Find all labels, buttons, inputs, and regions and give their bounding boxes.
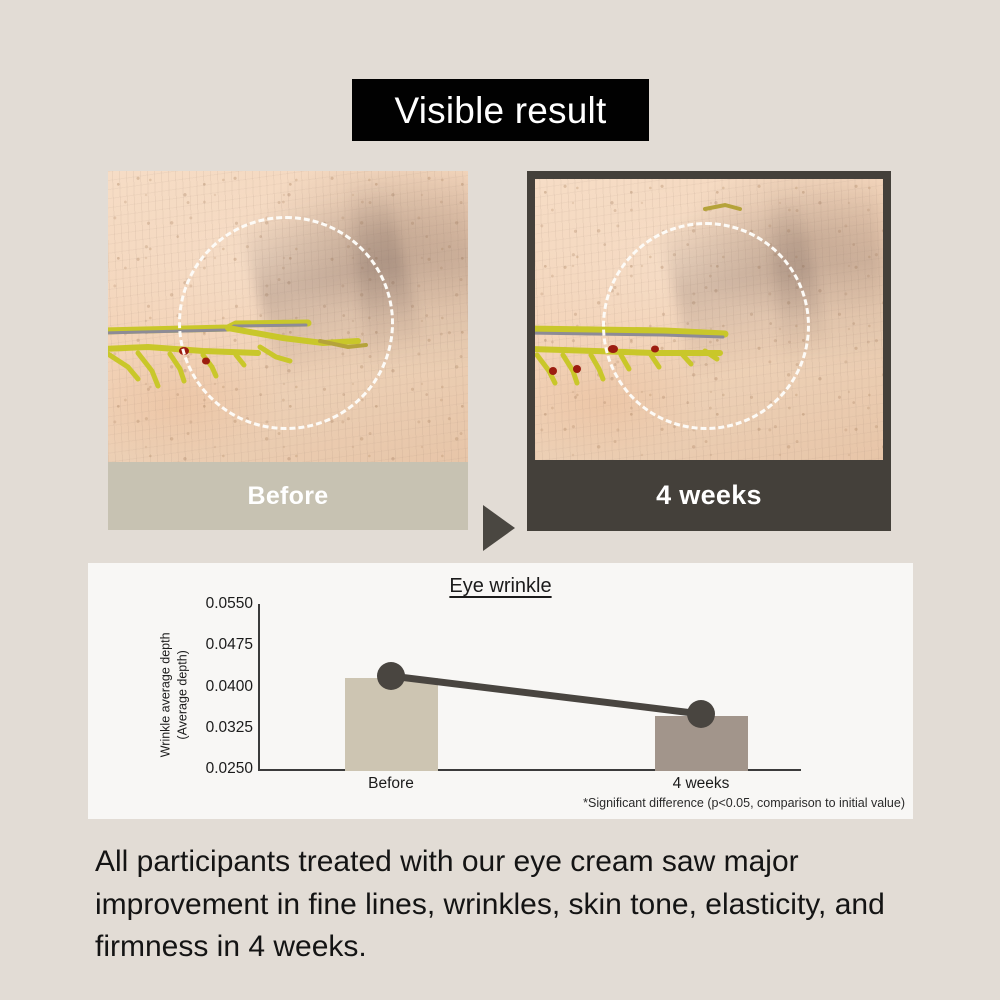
caption-bar-before: Before xyxy=(108,462,468,530)
y-tick-label: 0.0475 xyxy=(161,636,253,654)
y-tick-label: 0.0550 xyxy=(161,595,253,613)
focus-circle-before xyxy=(178,216,394,430)
y-axis-line xyxy=(258,604,260,771)
y-tick-label: 0.0325 xyxy=(161,719,253,737)
page-title-banner: Visible result xyxy=(352,79,649,141)
focus-circle-after xyxy=(602,222,810,430)
comparison-panel-before: Before xyxy=(108,171,468,530)
trend-marker-before xyxy=(377,662,405,690)
trend-marker-after xyxy=(687,700,715,728)
summary-paragraph: All participants treated with our eye cr… xyxy=(95,841,905,969)
caption-label-after: 4 weeks xyxy=(656,480,762,511)
bar-before xyxy=(345,678,438,771)
plot-area: 0.0550 0.0475 0.0400 0.0325 0.0250 Befor… xyxy=(88,563,913,819)
x-tick-label-before: Before xyxy=(321,775,461,793)
eye-wrinkle-chart-card: Eye wrinkle Wrinkle average depth (Avera… xyxy=(88,563,913,819)
page-title: Visible result xyxy=(395,92,607,129)
caption-label-before: Before xyxy=(248,482,329,511)
comparison-panel-after: 4 weeks xyxy=(527,171,891,531)
skin-photo-before xyxy=(108,171,468,462)
y-axis-tick-labels: 0.0550 0.0475 0.0400 0.0325 0.0250 xyxy=(161,563,253,819)
x-tick-label-after: 4 weeks xyxy=(631,775,771,793)
caption-bar-after: 4 weeks xyxy=(527,460,891,531)
chart-footnote: *Significant difference (p<0.05, compari… xyxy=(583,796,905,810)
y-tick-label: 0.0250 xyxy=(161,760,253,778)
triangle-right-icon xyxy=(483,505,515,551)
before-after-comparison: Before xyxy=(0,171,1000,531)
skin-photo-after xyxy=(535,179,883,460)
y-tick-label: 0.0400 xyxy=(161,678,253,696)
